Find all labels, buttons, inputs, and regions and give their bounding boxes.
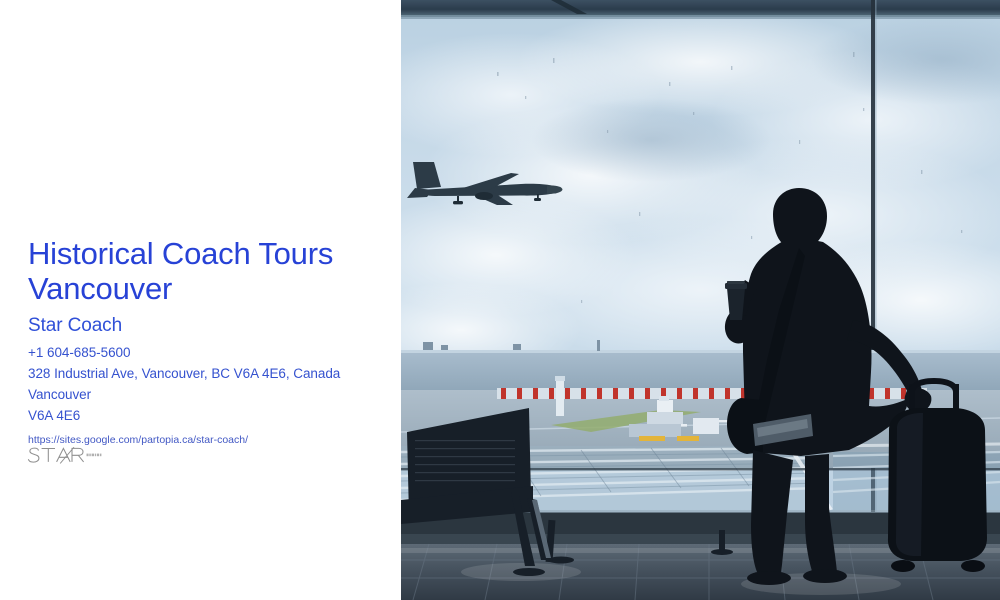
brand-name: Star Coach <box>28 314 388 337</box>
info-panel: Historical Coach Tours Vancouver Star Co… <box>0 0 401 600</box>
city-name: Vancouver <box>28 385 388 405</box>
page-title: Historical Coach Tours Vancouver <box>28 236 388 306</box>
postal-code: V6A 4E6 <box>28 406 388 426</box>
airport-terminal-photo <box>401 0 1000 600</box>
phone-number[interactable]: +1 604-685-5600 <box>28 343 388 363</box>
brand-logo <box>26 446 136 472</box>
street-address: 328 Industrial Ave, Vancouver, BC V6A 4E… <box>28 364 388 384</box>
business-info-block: Historical Coach Tours Vancouver Star Co… <box>28 236 388 448</box>
business-listing-card: Historical Coach Tours Vancouver Star Co… <box>0 0 1000 600</box>
